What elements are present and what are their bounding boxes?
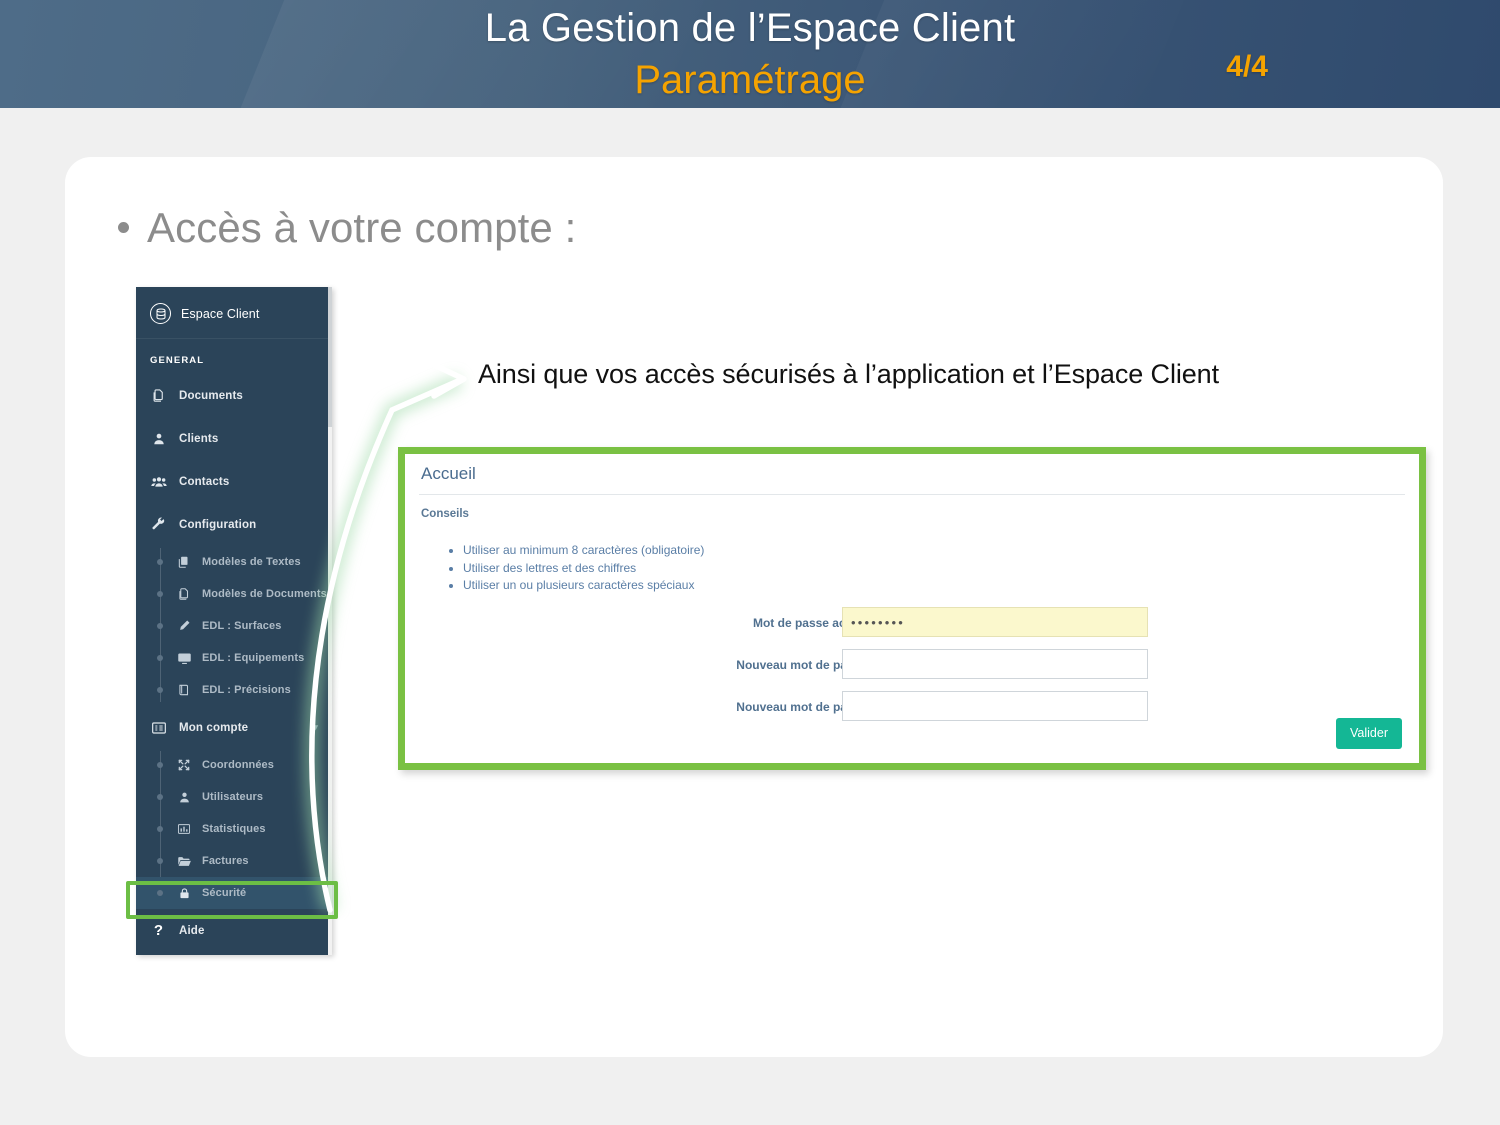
sidebar-brand: Espace Client xyxy=(136,287,332,339)
sidebar-subitem-securite[interactable]: Sécurité xyxy=(136,877,332,909)
section-heading: Accès à votre compte : xyxy=(118,204,576,252)
sidebar-item-mon-compte[interactable]: Mon compte ▾ xyxy=(136,706,332,749)
current-password-input[interactable]: •••••••• xyxy=(842,607,1148,637)
expand-arrows-icon xyxy=(176,757,192,773)
user-icon xyxy=(150,430,167,447)
sidebar-item-clients[interactable]: Clients xyxy=(136,417,332,460)
subitem-label: EDL : Précisions xyxy=(202,684,291,696)
documents-icon xyxy=(176,586,192,602)
sidebar-item-label: Documents xyxy=(179,390,243,402)
sidebar-item-label: Mon compte xyxy=(179,722,248,734)
form-row-nouveau-mot-de-passe-confirm: Nouveau mot de passe xyxy=(405,691,1419,724)
sidebar-subitem-modeles-de-documents[interactable]: Modèles de Documents xyxy=(136,578,332,610)
password-masked-value: •••••••• xyxy=(851,615,905,630)
users-group-icon xyxy=(150,473,167,490)
sidebar-item-configuration[interactable]: Configuration xyxy=(136,503,332,546)
sidebar-subitem-factures[interactable]: Factures xyxy=(136,845,332,877)
subitem-dot xyxy=(157,794,163,800)
subitem-dot xyxy=(157,559,163,565)
sidebar-subitem-edl-equipements[interactable]: EDL : Equipements xyxy=(136,642,332,674)
sidebar-subgroup-mon-compte: Coordonnées Utilisateurs xyxy=(136,749,332,909)
list-item: Utiliser au minimum 8 caractères (obliga… xyxy=(463,542,704,560)
sidebar-subitem-statistiques[interactable]: Statistiques xyxy=(136,813,332,845)
subitem-label: Modèles de Documents xyxy=(202,588,327,600)
sidebar-scrollbar-thumb[interactable] xyxy=(328,287,332,427)
conseils-list: Utiliser au minimum 8 caractères (obliga… xyxy=(449,542,704,595)
section-heading-label: Accès à votre compte : xyxy=(147,204,576,251)
valider-button[interactable]: Valider xyxy=(1336,718,1402,749)
accueil-panel: Accueil Conseils Utiliser au minimum 8 c… xyxy=(405,454,1419,763)
user-icon xyxy=(176,789,192,805)
sidebar-subitem-coordonnees[interactable]: Coordonnées xyxy=(136,749,332,781)
database-icon xyxy=(150,303,171,324)
list-card-icon xyxy=(150,719,167,736)
sidebar-item-label: Clients xyxy=(179,433,218,445)
slide-root: La Gestion de l’Espace Client Paramétrag… xyxy=(0,0,1500,1125)
monitor-icon xyxy=(176,650,192,666)
sidebar-item-contacts[interactable]: Contacts xyxy=(136,460,332,503)
sidebar-subitem-edl-precisions[interactable]: EDL : Précisions xyxy=(136,674,332,706)
form-row-nouveau-mot-de-passe: Nouveau mot de passe xyxy=(405,649,1419,682)
sidebar-item-documents[interactable]: Documents xyxy=(136,374,332,417)
form-row-mot-de-passe-actuel: Mot de passe actuel •••••••• xyxy=(405,607,1419,640)
subitem-label: EDL : Surfaces xyxy=(202,620,281,632)
subitem-dot xyxy=(157,655,163,661)
new-password-input[interactable] xyxy=(842,649,1148,679)
app-sidebar: Espace Client GENERAL Documents Clients xyxy=(136,287,332,955)
accueil-panel-frame: Accueil Conseils Utiliser au minimum 8 c… xyxy=(398,447,1426,770)
field-label: Nouveau mot de passe xyxy=(687,691,867,724)
subitem-dot xyxy=(157,623,163,629)
subitem-label: EDL : Equipements xyxy=(202,652,304,664)
question-mark-icon: ? xyxy=(150,922,167,939)
subitem-dot xyxy=(157,826,163,832)
bullet-dot xyxy=(118,222,129,233)
subitem-label: Statistiques xyxy=(202,823,266,835)
subitem-label: Utilisateurs xyxy=(202,791,263,803)
field-label: Mot de passe actuel xyxy=(687,607,867,640)
subitem-dot xyxy=(157,591,163,597)
subitem-dot xyxy=(157,858,163,864)
sidebar-item-aide[interactable]: ? Aide xyxy=(136,909,332,952)
page-title: La Gestion de l’Espace Client xyxy=(0,6,1500,51)
sidebar-subitem-edl-surfaces[interactable]: EDL : Surfaces xyxy=(136,610,332,642)
sidebar-subitem-modeles-de-textes[interactable]: Modèles de Textes xyxy=(136,546,332,578)
sidebar-item-label: Contacts xyxy=(179,476,229,488)
bar-chart-icon xyxy=(176,821,192,837)
sidebar-subitem-utilisateurs[interactable]: Utilisateurs xyxy=(136,781,332,813)
subitem-label: Factures xyxy=(202,855,249,867)
lock-icon xyxy=(176,885,192,901)
panel-title: Accueil xyxy=(421,464,476,484)
subitem-dot xyxy=(157,762,163,768)
sidebar-brand-label: Espace Client xyxy=(181,307,259,321)
sidebar-item-label: Configuration xyxy=(179,519,256,531)
book-icon xyxy=(176,682,192,698)
field-label: Nouveau mot de passe xyxy=(687,649,867,682)
sidebar-scrollbar-track[interactable] xyxy=(328,287,332,955)
list-item: Utiliser un ou plusieurs caractères spéc… xyxy=(463,577,704,595)
subitem-label: Modèles de Textes xyxy=(202,556,301,568)
page-subtitle: Paramétrage xyxy=(0,58,1500,103)
callout-annotation-text: Ainsi que vos accès sécurisés à l’applic… xyxy=(478,358,1438,392)
sidebar-subgroup-configuration: Modèles de Textes Modèles de Documents xyxy=(136,546,332,706)
documents-icon xyxy=(150,387,167,404)
panel-divider xyxy=(419,494,1405,495)
chevron-down-icon[interactable]: ▾ xyxy=(313,722,318,733)
subitem-dot xyxy=(157,687,163,693)
subitem-label: Sécurité xyxy=(202,887,246,899)
subitem-dot xyxy=(157,890,163,896)
slide-header: La Gestion de l’Espace Client Paramétrag… xyxy=(0,0,1500,108)
pencil-icon xyxy=(176,618,192,634)
confirm-password-input[interactable] xyxy=(842,691,1148,721)
sidebar-section-title: GENERAL xyxy=(136,339,332,374)
folder-icon xyxy=(176,853,192,869)
subitem-label: Coordonnées xyxy=(202,759,274,771)
sidebar-item-label: Aide xyxy=(179,925,205,937)
file-copy-icon xyxy=(176,554,192,570)
page-counter: 4/4 xyxy=(1226,50,1268,84)
wrench-icon xyxy=(150,516,167,533)
conseils-heading: Conseils xyxy=(421,508,469,520)
list-item: Utiliser des lettres et des chiffres xyxy=(463,560,704,578)
